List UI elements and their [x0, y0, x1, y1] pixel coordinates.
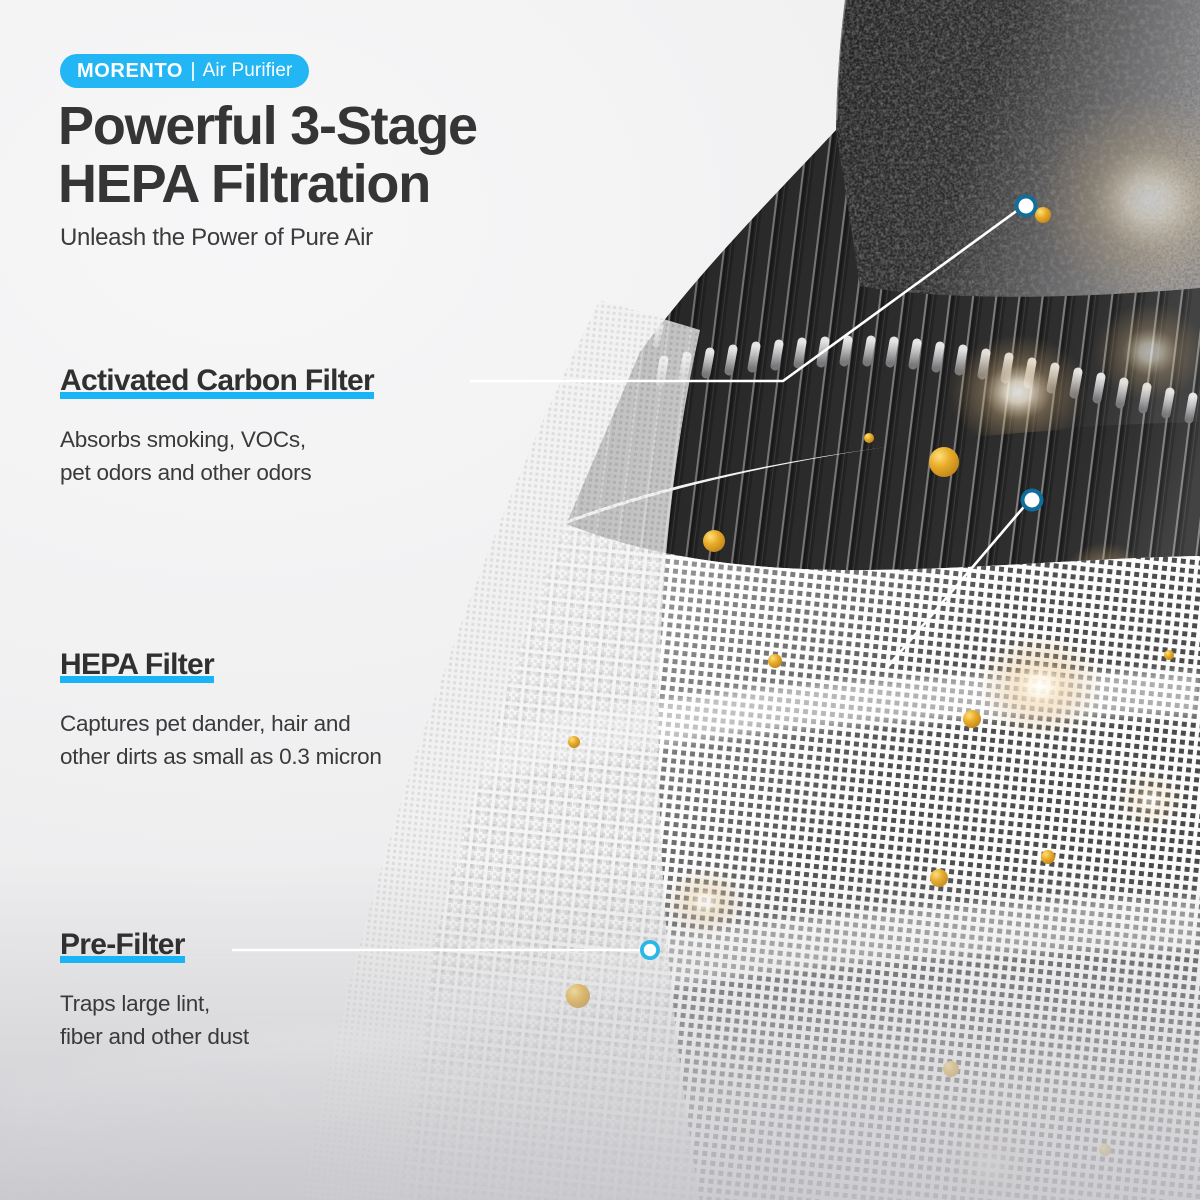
badge-divider — [192, 62, 194, 81]
section-title-pre-filter: Pre-Filter — [60, 928, 185, 962]
section-activated-carbon: Activated Carbon Filter Absorbs smoking,… — [60, 364, 374, 489]
section-body-hepa: Captures pet dander, hair and other dirt… — [60, 708, 382, 773]
section-pre-filter: Pre-Filter Traps large lint, fiber and o… — [60, 928, 249, 1053]
product-category: Air Purifier — [203, 60, 293, 82]
heading-wrap-pre-filter: Pre-Filter — [60, 928, 185, 962]
infographic-canvas: MORENTO Air Purifier Powerful 3-Stage HE… — [0, 0, 1200, 1200]
page-title: Powerful 3-Stage HEPA Filtration — [58, 98, 477, 214]
page-subtitle: Unleash the Power of Pure Air — [60, 224, 373, 252]
section-title-activated-carbon: Activated Carbon Filter — [60, 364, 374, 398]
section-hepa: HEPA Filter Captures pet dander, hair an… — [60, 648, 382, 773]
section-body-activated-carbon: Absorbs smoking, VOCs, pet odors and oth… — [60, 424, 374, 489]
heading-wrap-hepa: HEPA Filter — [60, 648, 214, 682]
section-title-hepa: HEPA Filter — [60, 648, 214, 682]
brand-badge: MORENTO Air Purifier — [60, 54, 309, 88]
heading-wrap-activated-carbon: Activated Carbon Filter — [60, 364, 374, 398]
brand-name: MORENTO — [77, 60, 183, 83]
section-body-pre-filter: Traps large lint, fiber and other dust — [60, 988, 249, 1053]
